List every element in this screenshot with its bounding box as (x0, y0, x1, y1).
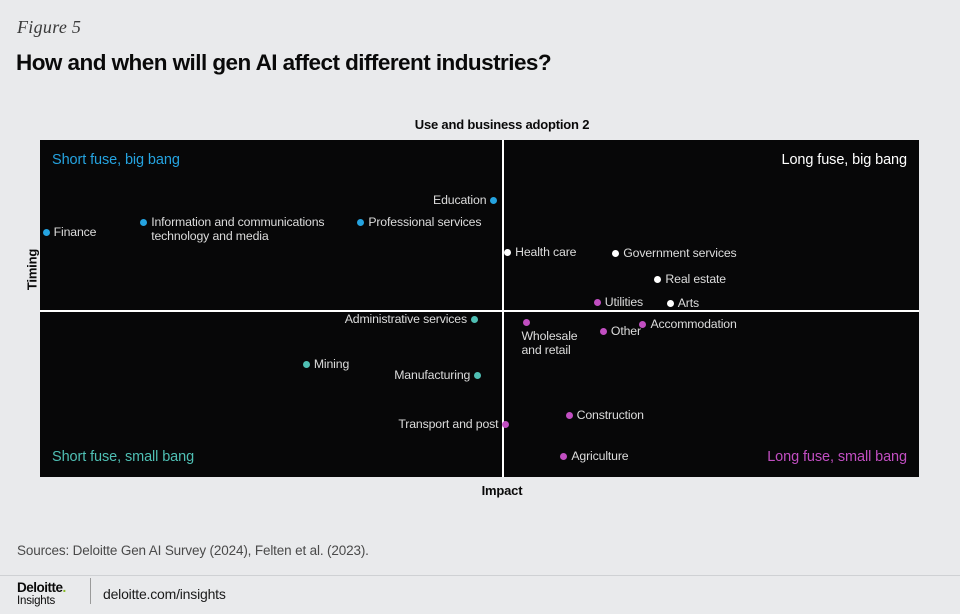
data-point-dot-icon (612, 250, 619, 257)
data-point-label: Education (433, 193, 486, 207)
data-point-label: Accommodation (650, 317, 736, 331)
data-point-dot-icon (594, 299, 601, 306)
data-point[interactable]: Administrative services (345, 312, 478, 326)
data-point[interactable]: Education (433, 193, 497, 207)
logo-divider (90, 578, 91, 604)
data-point-label: Agriculture (571, 449, 628, 463)
data-point[interactable]: Manufacturing (394, 368, 481, 382)
footer-divider (0, 575, 960, 576)
top-axis-title-text: Use and business adoption 2 (415, 117, 589, 132)
data-point-label: Professional services (368, 215, 481, 229)
quadrant-label-long-fuse-big-bang: Long fuse, big bang (782, 152, 908, 168)
data-point-dot-icon (502, 421, 509, 428)
quadrant-label-short-fuse-small-bang: Short fuse, small bang (52, 449, 194, 465)
x-axis-title-text: Impact (482, 483, 523, 498)
y-axis-title: Timing (25, 230, 40, 310)
data-point-dot-icon (560, 453, 567, 460)
data-point[interactable]: Finance (43, 225, 97, 239)
x-axis-title: Impact (0, 483, 960, 498)
data-point-dot-icon (357, 219, 364, 226)
data-point-label: Arts (678, 296, 699, 310)
data-point-label: Construction (577, 408, 644, 422)
data-point-label: Health care (515, 245, 576, 259)
data-point[interactable]: Information and communicationstechnology… (140, 215, 326, 243)
data-point[interactable]: Real estate (654, 272, 726, 286)
data-point[interactable]: Accommodation (639, 317, 736, 331)
data-point[interactable]: Professional services (357, 215, 481, 229)
site-url[interactable]: deloitte.com/insights (103, 586, 226, 602)
data-point-dot-icon (600, 328, 607, 335)
data-point[interactable]: Government services (612, 246, 736, 260)
data-point[interactable]: Wholesaleand retail (521, 319, 591, 357)
data-point[interactable]: Construction (566, 408, 644, 422)
data-point[interactable]: Health care (504, 245, 576, 259)
data-point-dot-icon (523, 319, 530, 326)
data-point[interactable]: Other (600, 324, 641, 338)
figure-label: Figure 5 (17, 17, 81, 38)
data-point-label: Real estate (665, 272, 726, 286)
data-point-label: Manufacturing (394, 368, 470, 382)
data-point-dot-icon (490, 197, 497, 204)
logo-insights-text: Insights (17, 596, 66, 608)
data-point-label: Other (611, 324, 641, 338)
horizontal-axis-line (40, 310, 919, 312)
data-point-dot-icon (474, 372, 481, 379)
logo-deloitte-text: Deloitte (17, 580, 63, 595)
data-point-label: Information and communicationstechnology… (151, 215, 326, 243)
data-point-label: Finance (54, 225, 97, 239)
data-point-label: Wholesaleand retail (521, 329, 591, 357)
data-point-dot-icon (566, 412, 573, 419)
data-point-label: Administrative services (345, 312, 467, 326)
data-point[interactable]: Mining (303, 357, 349, 371)
data-point-dot-icon (303, 361, 310, 368)
top-axis-title: Use and business adoption 2 (0, 117, 960, 132)
data-point[interactable]: Utilities (594, 295, 643, 309)
data-point-label: Transport and post (398, 417, 498, 431)
scatter-plot: Short fuse, big bang Long fuse, big bang… (40, 140, 919, 477)
sources-note: Sources: Deloitte Gen AI Survey (2024), … (17, 543, 369, 558)
data-point-dot-icon (471, 316, 478, 323)
data-point-label: Mining (314, 357, 349, 371)
data-point-label: Government services (623, 246, 736, 260)
quadrant-label-short-fuse-big-bang: Short fuse, big bang (52, 152, 180, 168)
deloitte-insights-logo: Deloitte. Insights (17, 581, 66, 607)
data-point-dot-icon (667, 300, 674, 307)
data-point-label: Utilities (605, 295, 643, 309)
page-title: How and when will gen AI affect differen… (16, 50, 551, 76)
data-point-dot-icon (140, 219, 147, 226)
logo-green-dot-icon: . (63, 580, 66, 595)
data-point[interactable]: Arts (667, 296, 699, 310)
data-point-dot-icon (654, 276, 661, 283)
data-point[interactable]: Transport and post (398, 417, 509, 431)
data-point-dot-icon (43, 229, 50, 236)
logo-deloitte-wordmark: Deloitte. (17, 581, 66, 595)
quadrant-label-long-fuse-small-bang: Long fuse, small bang (767, 449, 907, 465)
data-point-dot-icon (504, 249, 511, 256)
data-point[interactable]: Agriculture (560, 449, 628, 463)
